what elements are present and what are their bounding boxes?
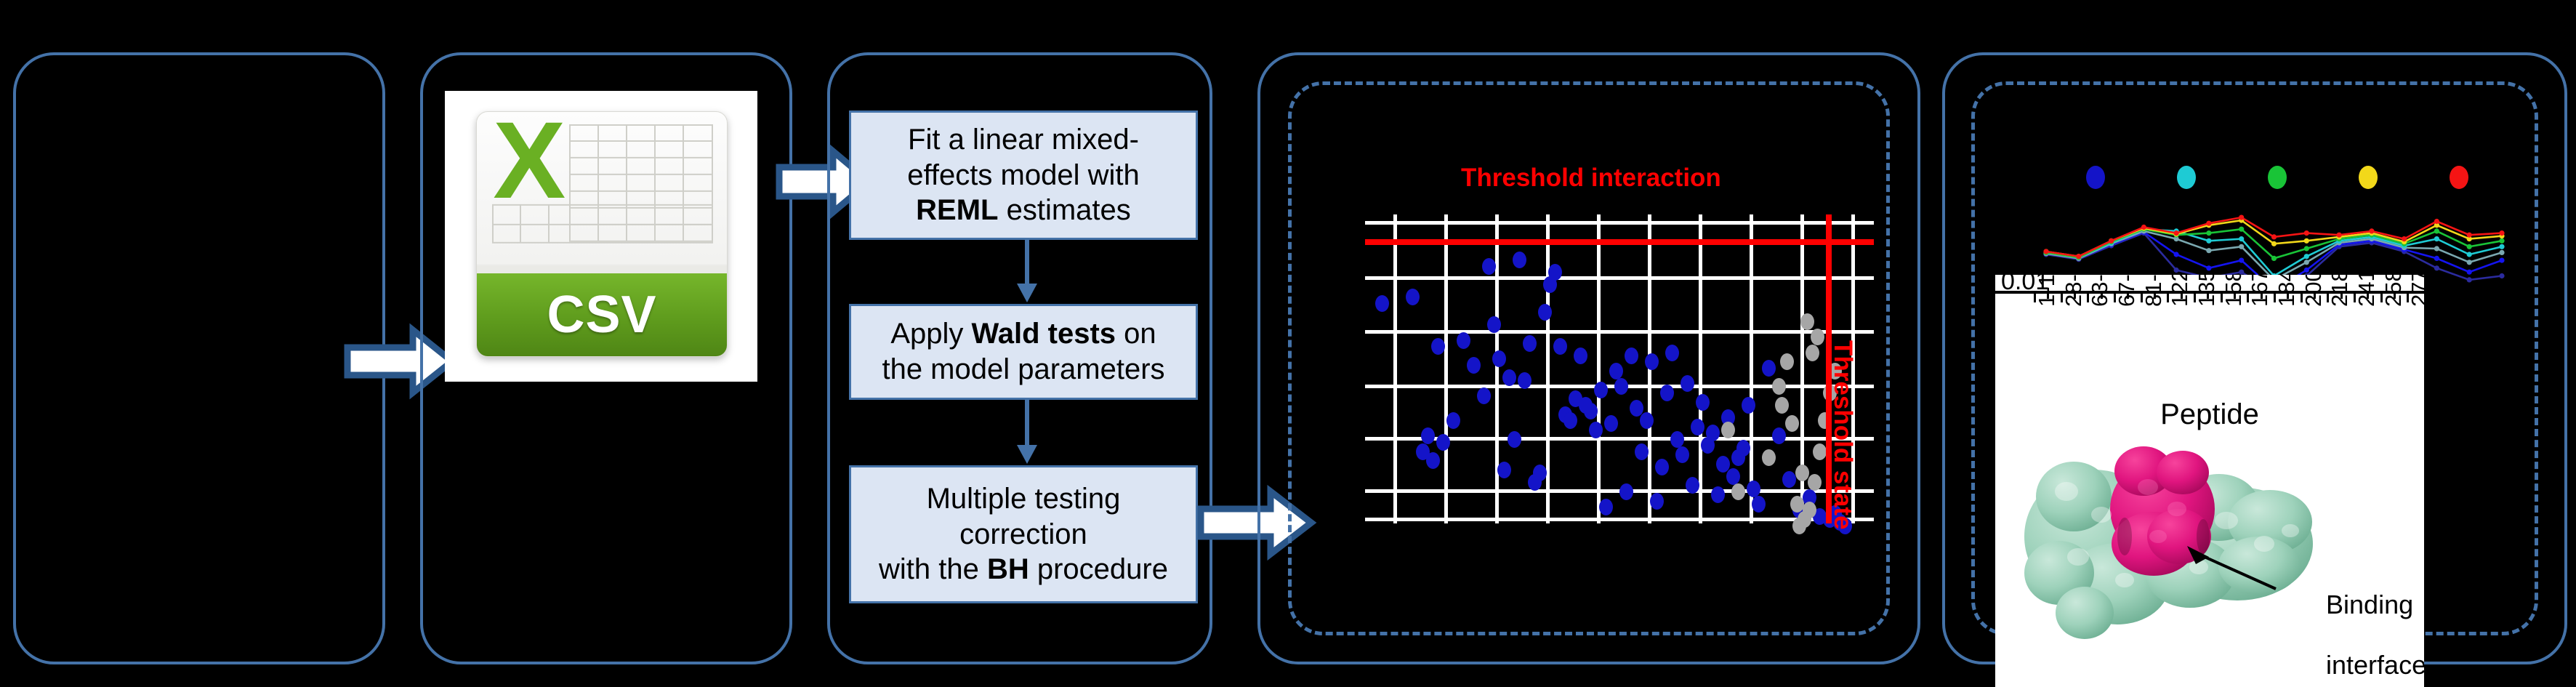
wald-pre: Apply: [890, 318, 971, 350]
peptide-label: 81-101: [2141, 275, 2167, 307]
line-marker: [2206, 238, 2211, 244]
scatter-point: [1457, 332, 1470, 349]
gridline-v: [1750, 214, 1753, 523]
scatter-point: [1665, 345, 1679, 361]
scatter-point: [1706, 425, 1720, 441]
scatter-point: [1497, 462, 1511, 478]
gridline-v: [1495, 214, 1499, 523]
wald-line2: the model parameters: [882, 353, 1164, 385]
gridline-v: [1699, 214, 1702, 523]
peptide-label: 200-214: [2301, 275, 2327, 307]
csv-file-icon: X CSV: [476, 111, 728, 357]
peptide-label: 158-166: [2221, 275, 2247, 307]
line-marker: [2337, 233, 2342, 238]
line-marker: [2271, 241, 2277, 246]
scatter-point: [1721, 422, 1735, 438]
fit-model-line3: estimates: [999, 194, 1131, 226]
legend-dot: [2450, 166, 2468, 189]
gridline-v: [1393, 214, 1397, 523]
peptide-label: 277-284: [2407, 275, 2424, 307]
line-marker: [2239, 236, 2244, 241]
legend-dot: [2268, 166, 2287, 189]
legend-dot: [2177, 166, 2196, 189]
scatter-point: [1502, 369, 1516, 386]
peptide-label: 167-180: [2247, 275, 2273, 307]
line-marker: [2304, 268, 2309, 273]
line-marker: [2174, 230, 2179, 236]
peptide-label: 218-237: [2327, 275, 2353, 307]
wald-post: on: [1116, 318, 1156, 350]
scatter-point: [1599, 499, 1613, 515]
scatter-point: [1523, 335, 1537, 352]
line-marker: [2271, 256, 2277, 261]
scatter-point: [1650, 493, 1664, 510]
line-marker: [2369, 228, 2374, 233]
scatter-point: [1675, 446, 1689, 463]
peptide-label: 122-129: [2167, 275, 2193, 307]
scatter-point: [1482, 258, 1496, 275]
scatter-point: [1785, 415, 1799, 432]
threshold-interaction-line: [1365, 239, 1874, 245]
line-marker: [2499, 258, 2504, 263]
scatter-point: [1782, 471, 1796, 488]
scatter-point: [1691, 419, 1704, 435]
scatter-point: [1625, 347, 1638, 364]
scatter-point: [1421, 427, 1435, 444]
line-marker: [2239, 270, 2244, 275]
bh-line1: Multiple testing: [927, 483, 1121, 515]
peptide-axis-card: 0.01 1-1528-4463-7367-7581-101122-129135…: [1995, 275, 2424, 687]
x-axis-title: Peptide: [1995, 398, 2424, 431]
binding-interface-line2: interface: [2326, 650, 2424, 680]
bh-post: procedure: [1029, 553, 1168, 585]
scatter-point: [1594, 382, 1608, 398]
wald-tests-box[interactable]: Apply Wald tests on the model parameters: [849, 304, 1198, 400]
line-marker: [2043, 249, 2048, 254]
scatter-point: [1563, 412, 1577, 429]
fit-model-reml: REML: [916, 194, 998, 226]
scatter-point: [1681, 375, 1694, 392]
line-marker: [2304, 230, 2309, 236]
scatter-point: [1696, 394, 1710, 411]
peptide-label: 241-257: [2354, 275, 2380, 307]
scatter-point: [1574, 347, 1587, 364]
gridline-h: [1365, 330, 1874, 334]
line-marker: [2434, 228, 2439, 233]
line-marker: [2239, 258, 2244, 263]
line-marker: [2434, 265, 2439, 270]
line-marker: [2467, 233, 2472, 238]
scatter-point: [1742, 397, 1755, 414]
gridline-h: [1365, 276, 1874, 280]
binding-interface-annotation: Binding interface: [2282, 560, 2424, 687]
scatter-point: [1533, 465, 1547, 481]
line-marker: [2434, 219, 2439, 224]
line-marker: [2499, 238, 2504, 244]
line-marker: [2109, 238, 2114, 244]
scatter-point: [1508, 431, 1521, 448]
line-marker: [2304, 254, 2309, 259]
scatter-point: [1752, 496, 1766, 513]
bh-line2: correction: [959, 518, 1087, 550]
scatter-point: [1640, 412, 1654, 429]
peptide-label: 63-73: [2087, 275, 2113, 307]
scatter-point: [1446, 412, 1460, 429]
scatter-plot-area: [1365, 214, 1874, 523]
wald-bold: Wald tests: [972, 318, 1116, 350]
threshold-state-label: Threshold state: [1828, 340, 1857, 530]
line-marker: [2467, 244, 2472, 249]
scatter-point: [1762, 449, 1776, 466]
peptide-label: 135-144: [2194, 275, 2220, 307]
line-marker: [2141, 225, 2146, 230]
connector-box2-box3: [1013, 400, 1042, 467]
line-marker: [2271, 234, 2277, 239]
scatter-point: [1548, 264, 1562, 281]
legend-dot: [2359, 166, 2378, 189]
line-marker: [2499, 244, 2504, 249]
csv-label-band: CSV: [477, 273, 727, 356]
scatter-point: [1584, 403, 1598, 419]
scatter-point: [1609, 363, 1623, 379]
line-marker: [2239, 244, 2244, 249]
series-legend: [2013, 166, 2508, 195]
scatter-point: [1772, 427, 1786, 444]
panel-input: [13, 52, 385, 664]
scatter-point: [1406, 289, 1420, 305]
fit-model-line1: Fit a linear mixed-: [908, 124, 1139, 156]
scatter-point: [1772, 378, 1786, 395]
scatter-point: [1813, 443, 1827, 460]
scatter-point: [1811, 329, 1824, 345]
line-marker: [2174, 268, 2179, 273]
scatter-point: [1553, 338, 1567, 355]
scatter-point: [1711, 486, 1725, 503]
scatter-point: [1800, 313, 1814, 330]
line-marker: [2206, 230, 2211, 236]
scatter-point: [1375, 295, 1389, 312]
peptide-label: 67-75: [2114, 275, 2140, 307]
gridline-v: [1546, 214, 1550, 523]
line-marker: [2467, 277, 2472, 282]
bh-bold: BH: [987, 553, 1029, 585]
gridline-v: [1444, 214, 1448, 523]
scatter-point: [1619, 483, 1633, 500]
scatter-point: [1660, 385, 1674, 401]
peptide-label: 28-44: [2061, 275, 2087, 307]
line-marker: [2304, 238, 2309, 244]
scatter-point: [1604, 415, 1618, 432]
scatter-point: [1670, 431, 1684, 448]
line-marker: [2499, 273, 2504, 278]
gridline-v: [1597, 214, 1601, 523]
fit-model-box[interactable]: Fit a linear mixed- effects model with R…: [849, 111, 1198, 240]
line-marker: [2499, 230, 2504, 236]
line-marker: [2239, 227, 2244, 232]
scatter-point: [1731, 483, 1745, 500]
csv-file-card: X CSV: [445, 91, 757, 382]
line-marker: [2467, 260, 2472, 265]
scatter-point: [1775, 397, 1789, 414]
line-marker: [2467, 252, 2472, 257]
line-marker: [2467, 270, 2472, 275]
scatter-point: [1762, 360, 1776, 377]
scatter-point: [1614, 378, 1628, 395]
threshold-interaction-label: Threshold interaction: [1461, 164, 1721, 193]
gridline-h: [1365, 221, 1874, 225]
peptide-axis-labels: 1-1528-4463-7367-7581-101122-129135-1441…: [1995, 307, 2424, 394]
line-marker: [2434, 256, 2439, 261]
bh-correction-box[interactable]: Multiple testing correction with the BH …: [849, 465, 1198, 603]
scatter-point: [1436, 434, 1450, 451]
line-marker: [2304, 246, 2309, 251]
line-marker: [2434, 246, 2439, 251]
peptide-label: 1-15: [2034, 275, 2060, 307]
scatter-point: [1747, 481, 1760, 497]
legend-dot: [2086, 166, 2105, 189]
bh-pre: with the: [879, 553, 987, 585]
scatter-point: [1426, 452, 1440, 469]
scatter-point: [1492, 350, 1506, 367]
line-marker: [2499, 250, 2504, 255]
line-marker: [2304, 260, 2309, 265]
line-marker: [2239, 215, 2244, 220]
scatter-point: [1795, 465, 1809, 481]
line-marker: [2206, 221, 2211, 226]
scatter-point: [1655, 459, 1669, 475]
scatter-point: [1477, 387, 1491, 404]
fit-model-box-text: Fit a linear mixed- effects model with R…: [907, 122, 1139, 228]
scatter-point: [1790, 496, 1804, 513]
line-marker: [2206, 265, 2211, 270]
scatter-point: [1431, 338, 1445, 355]
excel-x-glyph: X: [482, 114, 577, 222]
scatter-point: [1780, 353, 1794, 370]
scatter-point: [1806, 345, 1819, 361]
scatter-point: [1513, 252, 1526, 268]
line-marker: [2174, 252, 2179, 257]
volcano-scatter-plot: [1365, 214, 1874, 523]
scatter-point: [1736, 440, 1750, 457]
scatter-point: [1635, 443, 1649, 460]
line-marker: [2434, 236, 2439, 241]
peptide-label: 258-266: [2380, 275, 2407, 307]
fit-model-line2: effects model with: [907, 159, 1139, 191]
scatter-point: [1467, 357, 1481, 374]
scatter-point: [1518, 372, 1531, 389]
binding-interface-line1: Binding: [2326, 590, 2413, 619]
line-marker: [2076, 254, 2081, 259]
scatter-point: [1538, 304, 1552, 321]
line-marker: [2402, 236, 2407, 241]
connector-box1-box2: [1013, 240, 1042, 305]
scatter-point: [1589, 422, 1603, 438]
scatter-point: [1726, 468, 1740, 485]
flowchart-canvas: X CSV Fit a linear mixed- effects model …: [0, 0, 2576, 687]
scatter-point: [1645, 353, 1659, 370]
wald-box-text: Apply Wald tests on the model parameters: [882, 316, 1164, 387]
line-marker: [2206, 248, 2211, 253]
bh-box-text: Multiple testing correction with the BH …: [879, 481, 1168, 587]
peptide-label: 184-199: [2274, 275, 2300, 307]
scatter-point: [1808, 474, 1822, 491]
csv-label: CSV: [547, 285, 656, 345]
